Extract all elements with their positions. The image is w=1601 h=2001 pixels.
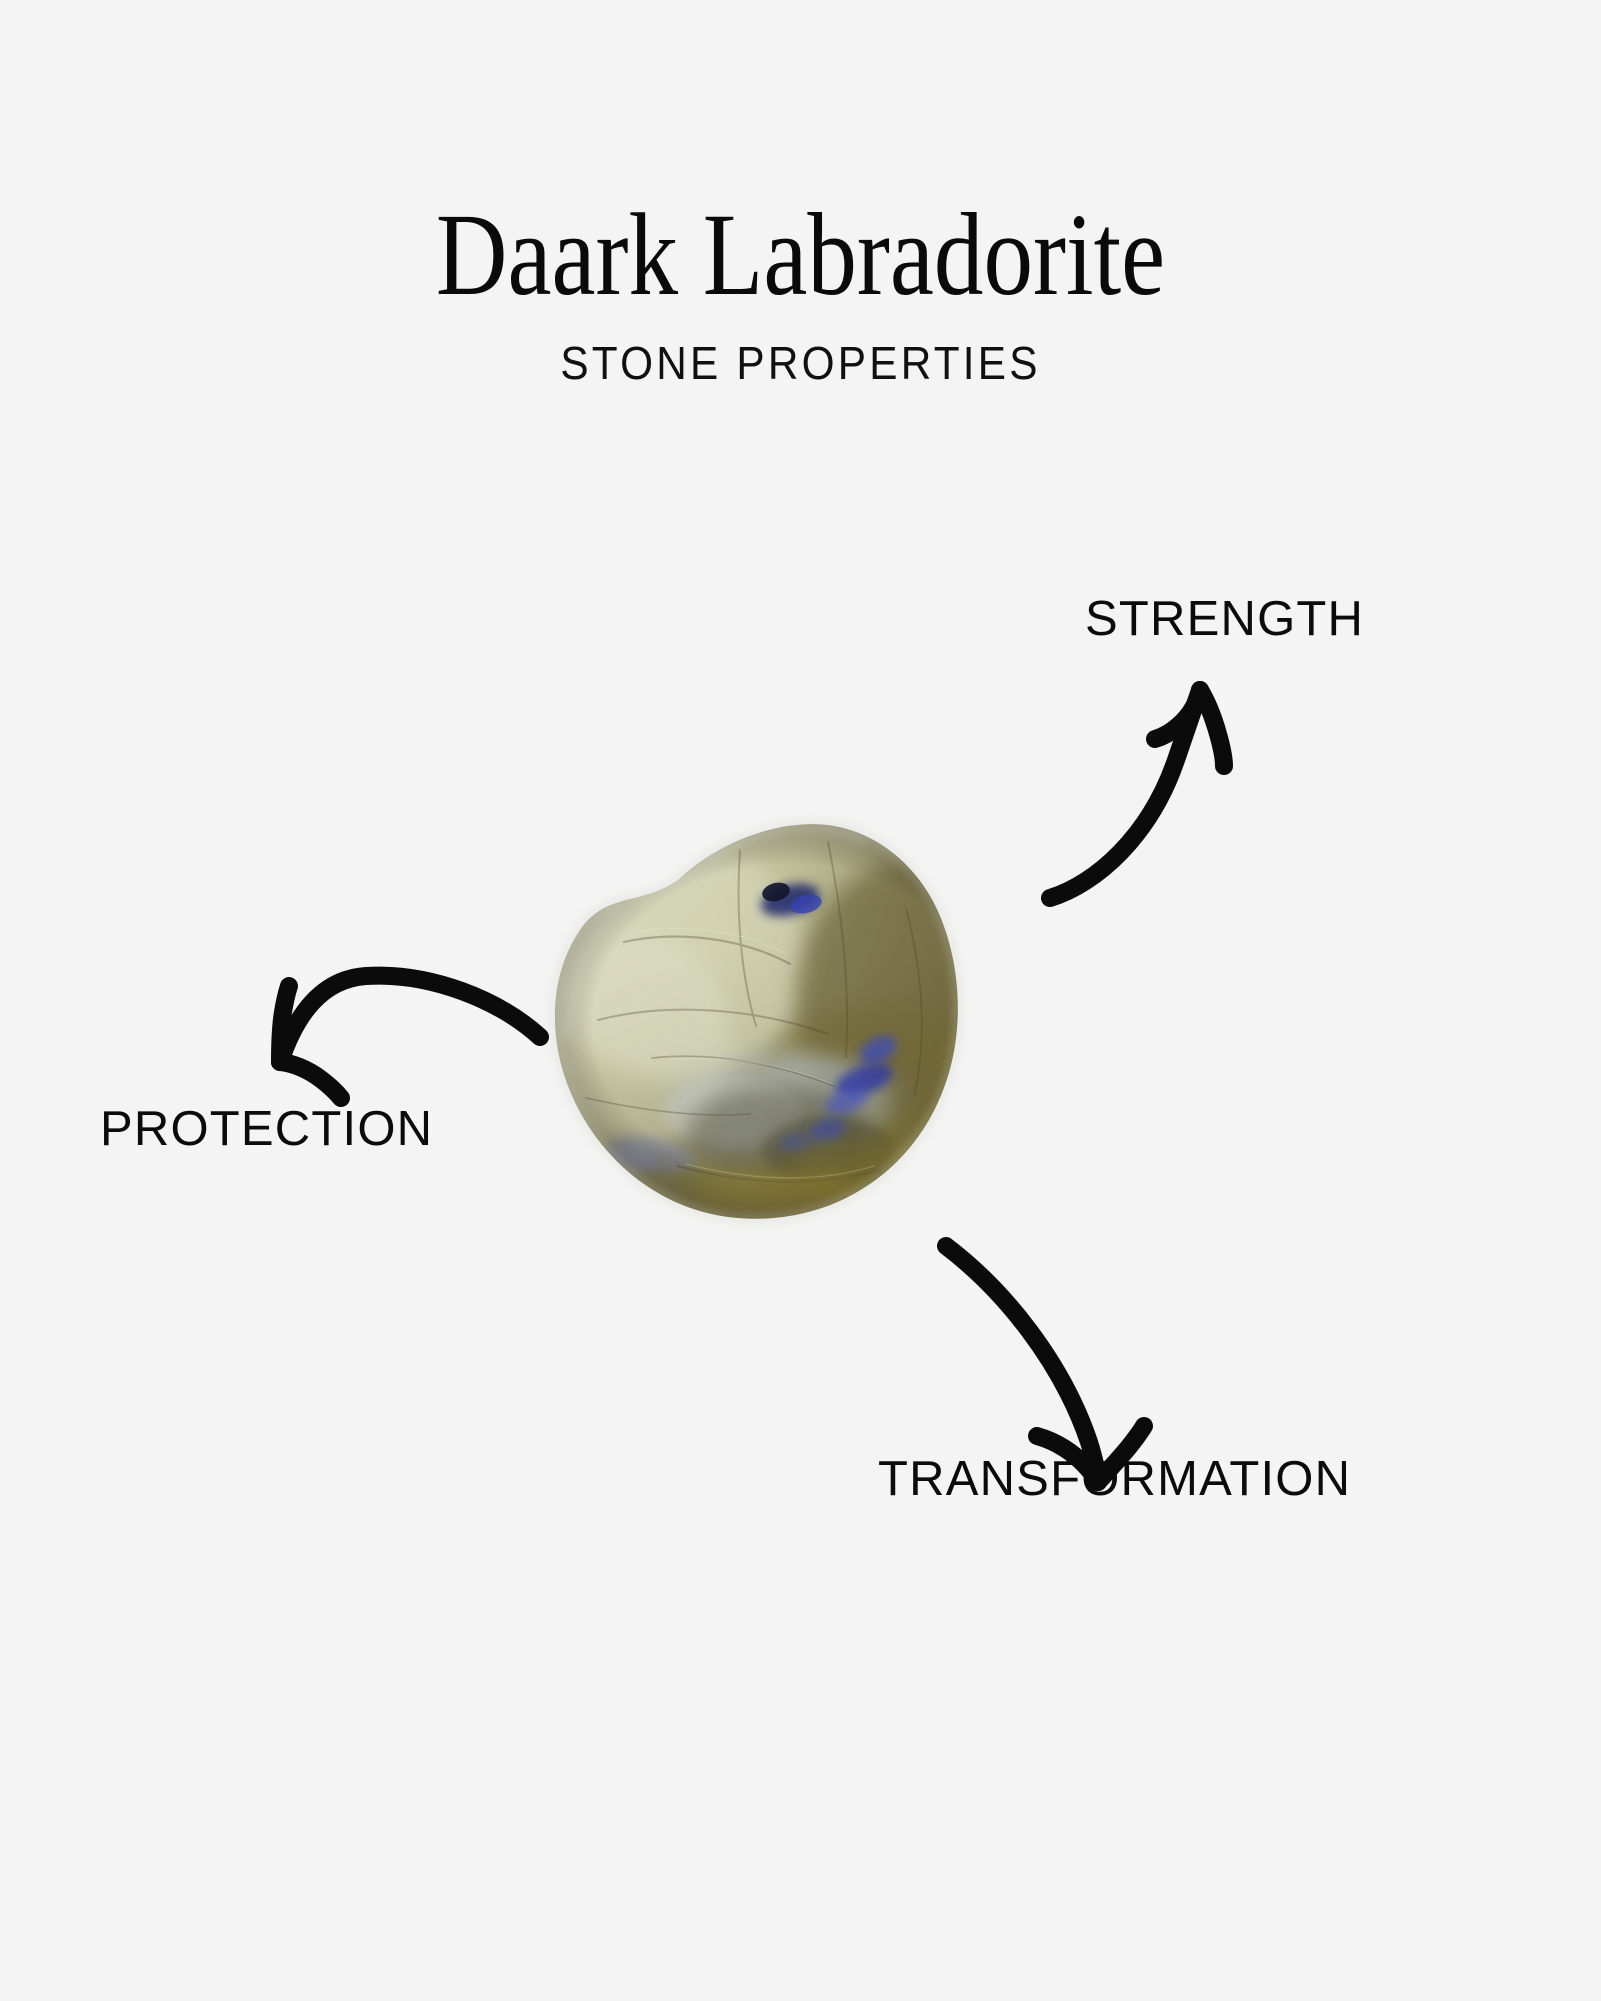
page-title: Daark Labradorite: [128, 0, 1473, 314]
stone-image-container: [528, 812, 1048, 1232]
poster-canvas: Daark Labradorite STONE PROPERTIES: [0, 0, 1601, 2001]
arrow-strength: [1050, 690, 1224, 898]
poster-header: Daark Labradorite STONE PROPERTIES: [0, 0, 1601, 386]
labradorite-stone-icon: [528, 812, 1048, 1232]
property-label-transformation: TRANSFORMATION: [878, 1455, 1351, 1504]
arrow-transformation: [946, 1246, 1144, 1482]
arrow-protection: [280, 976, 540, 1098]
property-label-strength: STRENGTH: [1085, 595, 1364, 644]
property-label-protection: PROTECTION: [100, 1105, 433, 1154]
page-subtitle: STONE PROPERTIES: [64, 314, 1537, 386]
